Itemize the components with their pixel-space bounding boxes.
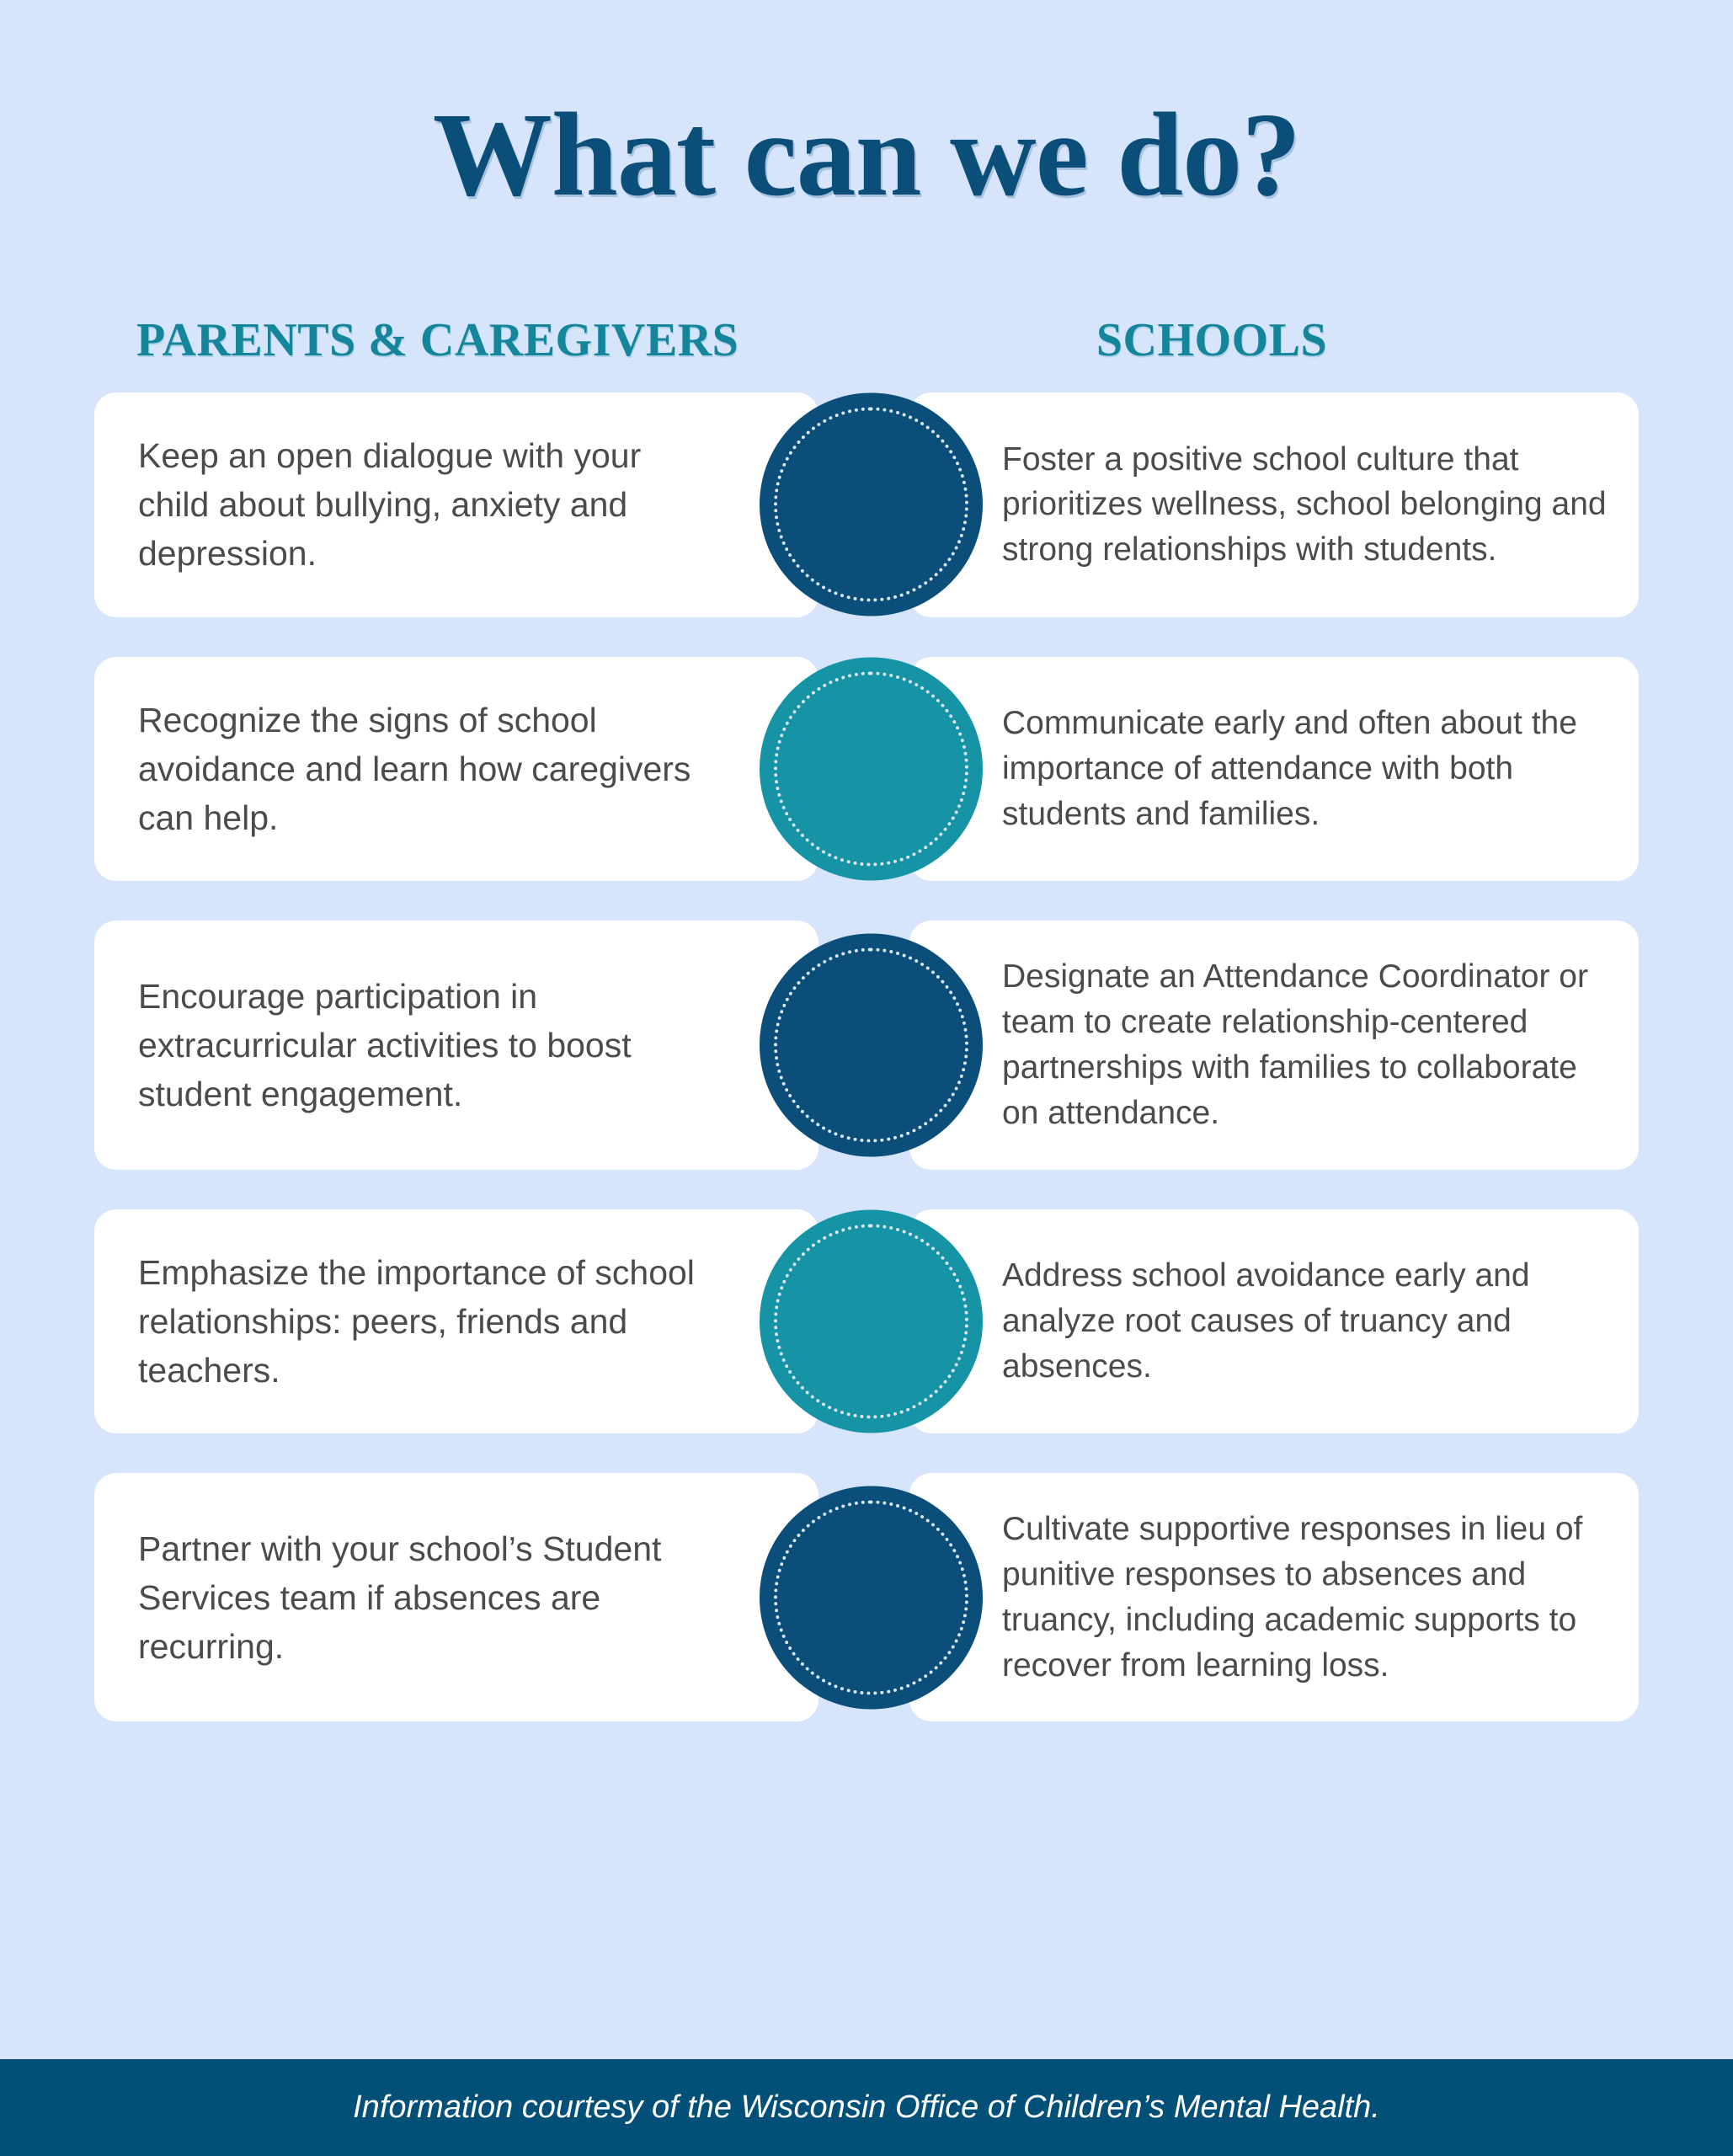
advice-row: Emphasize the importance of school relat… [94,1209,1639,1434]
column-header-schools: SCHOOLS [886,313,1639,367]
school-advice-card: Cultivate supportive responses in lieu o… [909,1473,1639,1721]
school-advice-text: Communicate early and often about the im… [1002,701,1613,836]
parent-advice-card: Encourage participation in extracurricul… [94,921,819,1169]
advice-row: Recognize the signs of school avoidance … [94,657,1639,882]
parent-advice-card: Partner with your school’s Student Servi… [94,1473,819,1721]
advice-row: Partner with your school’s Student Servi… [94,1473,1639,1721]
parent-advice-text: Keep an open dialogue with your child ab… [138,431,709,579]
column-headers: PARENTS & CAREGIVERS SCHOOLS [0,313,1733,367]
circle-dark-icon [760,1486,983,1709]
school-advice-card: Communicate early and often about the im… [909,657,1639,882]
parent-advice-card: Recognize the signs of school avoidance … [94,657,819,882]
advice-rows: Keep an open dialogue with your child ab… [0,392,1733,1721]
parent-advice-card: Keep an open dialogue with your child ab… [94,392,819,617]
column-header-parents-caregivers: PARENTS & CAREGIVERS [94,313,886,367]
circle-teal-icon [760,657,983,880]
parent-advice-text: Emphasize the importance of school relat… [138,1248,709,1396]
school-advice-text: Designate an Attendance Coordinator or t… [1002,954,1613,1135]
divider-circle [760,933,983,1156]
footer-attribution-text: Information courtesy of the Wisconsin Of… [353,2089,1380,2126]
page-title: What can we do? [0,0,1733,214]
school-advice-card: Foster a positive school culture that pr… [909,392,1639,617]
school-advice-card: Address school avoidance early and analy… [909,1209,1639,1434]
divider-circle [760,393,983,616]
circle-dark-icon [760,933,983,1156]
parent-advice-text: Recognize the signs of school avoidance … [138,696,709,843]
divider-circle [760,1486,983,1709]
parent-advice-text: Partner with your school’s Student Servi… [138,1524,709,1672]
school-advice-text: Cultivate supportive responses in lieu o… [1002,1507,1613,1688]
school-advice-text: Foster a positive school culture that pr… [1002,437,1613,573]
parent-advice-card: Emphasize the importance of school relat… [94,1209,819,1434]
advice-row: Encourage participation in extracurricul… [94,921,1639,1169]
circle-dark-icon [760,393,983,616]
school-advice-text: Address school avoidance early and analy… [1002,1253,1613,1389]
footer-bar: Information courtesy of the Wisconsin Of… [0,2059,1733,2156]
parent-advice-text: Encourage participation in extracurricul… [138,972,709,1119]
advice-row: Keep an open dialogue with your child ab… [94,392,1639,617]
divider-circle [760,657,983,880]
circle-teal-icon [760,1209,983,1433]
school-advice-card: Designate an Attendance Coordinator or t… [909,921,1639,1169]
divider-circle [760,1209,983,1433]
